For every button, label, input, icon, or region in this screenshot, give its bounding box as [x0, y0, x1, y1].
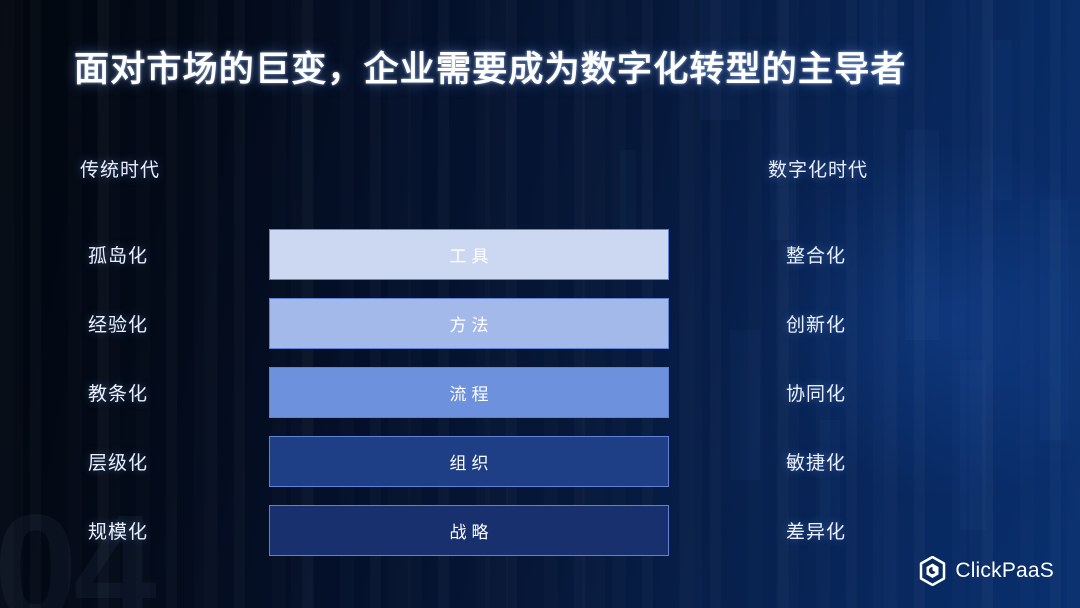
row-right-label: 创新化 — [786, 298, 846, 349]
row-right-label: 敏捷化 — [786, 436, 846, 487]
page-title: 面对市场的巨变，企业需要成为数字化转型的主导者 — [74, 41, 907, 92]
table-row: 经验化 方法 创新化 — [0, 298, 1080, 349]
center-bar-label: 工具 — [445, 242, 494, 267]
row-left-label: 经验化 — [88, 298, 148, 349]
center-bar-method[interactable]: 方法 — [269, 298, 669, 349]
comparison-rows: 孤岛化 工具 整合化 经验化 方法 创新化 教条化 流程 协同化 层级化 组织 — [0, 229, 1080, 556]
center-bar-strategy[interactable]: 战略 — [269, 505, 669, 556]
row-right-label: 差异化 — [786, 505, 846, 556]
brand-logo: ClickPaaS — [919, 556, 1054, 586]
slide-canvas: 04 面对市场的巨变，企业需要成为数字化转型的主导者 传统时代 数字化时代 孤岛… — [0, 0, 1080, 608]
table-row: 孤岛化 工具 整合化 — [0, 229, 1080, 280]
center-bar-label: 流程 — [445, 380, 494, 405]
brand-name: ClickPaaS — [955, 559, 1054, 583]
center-bar-label: 战略 — [445, 518, 494, 543]
center-bar-process[interactable]: 流程 — [269, 367, 669, 418]
center-bar-label: 组织 — [445, 449, 494, 474]
row-left-label: 规模化 — [88, 505, 148, 556]
center-bar-organization[interactable]: 组织 — [269, 436, 669, 487]
table-row: 规模化 战略 差异化 — [0, 505, 1080, 556]
row-right-label: 整合化 — [786, 229, 846, 280]
row-left-label: 教条化 — [88, 367, 148, 418]
column-header-traditional: 传统时代 — [80, 155, 160, 182]
hexagon-cube-icon — [919, 556, 946, 586]
row-right-label: 协同化 — [786, 367, 846, 418]
row-left-label: 孤岛化 — [88, 229, 148, 280]
table-row: 层级化 组织 敏捷化 — [0, 436, 1080, 487]
row-left-label: 层级化 — [88, 436, 148, 487]
center-bar-tool[interactable]: 工具 — [269, 229, 669, 280]
table-row: 教条化 流程 协同化 — [0, 367, 1080, 418]
column-header-digital: 数字化时代 — [768, 155, 868, 182]
center-bar-label: 方法 — [445, 311, 494, 336]
